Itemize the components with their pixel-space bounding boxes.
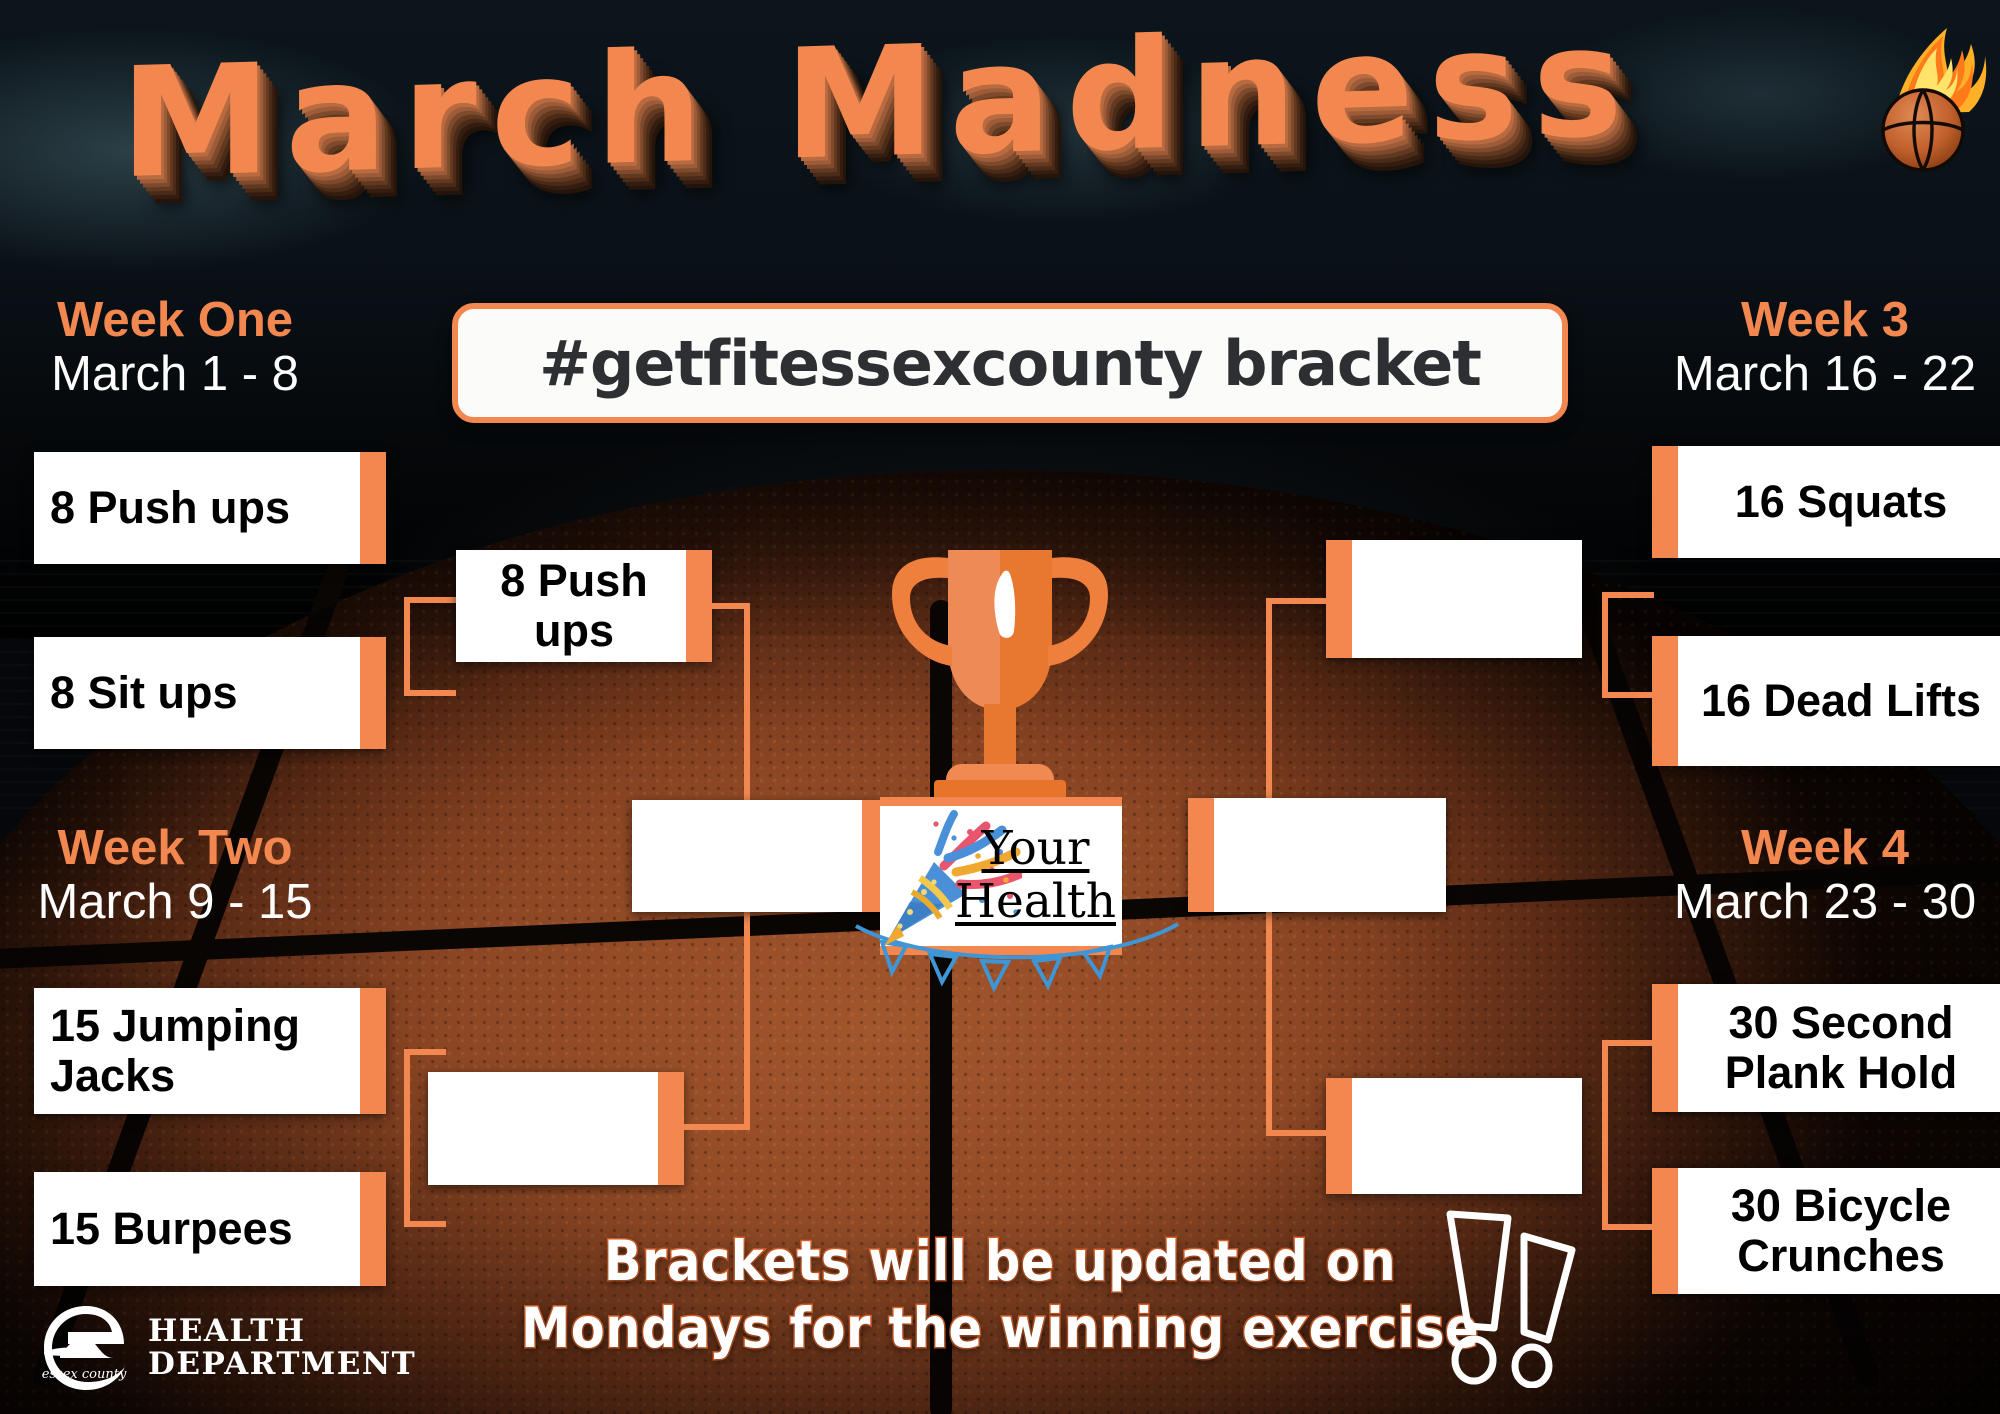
footer-note: Brackets will be updated on Mondays for … xyxy=(470,1228,1530,1362)
bracket-connector xyxy=(680,1124,750,1130)
bracket-slot[interactable]: 16 Squats xyxy=(1652,446,2000,558)
bracket-slot[interactable]: 16 Dead Lifts xyxy=(1652,636,2000,766)
bracket-connector xyxy=(1602,1040,1608,1230)
bracket-connector xyxy=(404,1221,446,1227)
bracket-connector xyxy=(712,603,750,609)
hashtag-banner-text: #getfitessexcounty bracket xyxy=(539,327,1481,400)
flaming-basketball-icon xyxy=(1855,22,1987,172)
week-three-dates: March 16 - 22 xyxy=(1625,346,2000,404)
march-madness-bracket-poster: March Madness #getfitessexcounty bracket… xyxy=(0,0,2000,1414)
bracket-slot[interactable]: 30 Second Plank Hold xyxy=(1652,984,2000,1112)
bracket-slot-label: 30 Bicycle Crunches xyxy=(1678,1181,2000,1282)
bracket-connector xyxy=(1266,1130,1328,1136)
bracket-slot-label: 15 Burpees xyxy=(34,1204,360,1254)
footer-note-line-2: Mondays for the winning exercise xyxy=(470,1295,1530,1362)
week-header-three: Week 3 March 16 - 22 xyxy=(1625,295,2000,404)
bracket-connector xyxy=(1602,1224,1654,1230)
bracket-slot-label: 16 Dead Lifts xyxy=(1678,676,2000,726)
bracket-slot-label: 30 Second Plank Hold xyxy=(1678,998,2000,1099)
hashtag-banner: #getfitessexcounty bracket xyxy=(452,303,1568,423)
bracket-slot-label: 8 Push ups xyxy=(456,556,686,657)
bracket-slot[interactable]: 15 Jumping Jacks xyxy=(34,988,386,1114)
center-prize-line-2: Health xyxy=(955,876,1116,929)
week-header-two: Week Two March 9 - 15 xyxy=(0,823,375,932)
bracket-slot-label: 8 Sit ups xyxy=(34,668,360,718)
week-three-name: Week 3 xyxy=(1625,295,2000,346)
logo-wordmark: HEALTH DEPARTMENT xyxy=(148,1315,416,1382)
logo-script-text: essex county xyxy=(42,1367,127,1382)
logo-line-2: DEPARTMENT xyxy=(148,1348,416,1381)
bracket-connector xyxy=(404,597,410,696)
bracket-slot[interactable] xyxy=(1188,798,1446,912)
week-header-one: Week One March 1 - 8 xyxy=(0,295,375,404)
bracket-slot[interactable]: 15 Burpees xyxy=(34,1172,386,1286)
bracket-slot[interactable] xyxy=(428,1072,684,1185)
week-two-dates: March 9 - 15 xyxy=(0,874,375,932)
bracket-slot[interactable] xyxy=(1326,1078,1582,1194)
bracket-connector xyxy=(404,690,456,696)
essex-county-e-mountain-icon: essex county xyxy=(38,1302,134,1394)
bracket-slot-label: 15 Jumping Jacks xyxy=(34,1001,360,1102)
bracket-connector xyxy=(1266,598,1328,604)
week-one-name: Week One xyxy=(0,295,375,346)
bracket-slot[interactable] xyxy=(632,800,888,912)
double-exclamation-icon xyxy=(1428,1208,1598,1388)
bracket-connector xyxy=(1602,692,1654,698)
week-two-name: Week Two xyxy=(0,823,375,874)
center-prize-text: Your Health xyxy=(955,823,1122,928)
logo-line-1: HEALTH xyxy=(148,1315,416,1348)
trophy-icon xyxy=(862,530,1138,830)
week-four-name: Week 4 xyxy=(1625,823,2000,874)
bracket-connector xyxy=(404,597,456,603)
week-four-dates: March 23 - 30 xyxy=(1625,874,2000,932)
essex-county-health-department-logo: essex county HEALTH DEPARTMENT xyxy=(38,1300,368,1396)
page-title: March Madness xyxy=(120,8,1880,198)
bracket-connector xyxy=(404,1049,410,1227)
bracket-slot[interactable]: 8 Sit ups xyxy=(34,637,386,749)
week-one-dates: March 1 - 8 xyxy=(0,346,375,404)
footer-note-line-1: Brackets will be updated on xyxy=(470,1228,1530,1295)
bracket-connector xyxy=(404,1049,446,1055)
bracket-slot[interactable]: 8 Push ups xyxy=(34,452,386,564)
center-prize-line-1: Your xyxy=(955,823,1116,876)
bracket-slot[interactable]: 8 Push ups xyxy=(456,550,712,662)
bracket-slot[interactable] xyxy=(1326,540,1582,658)
bracket-slot-label: 16 Squats xyxy=(1678,477,2000,527)
bracket-slot[interactable]: 30 Bicycle Crunches xyxy=(1652,1168,2000,1294)
bracket-connector xyxy=(1602,592,1608,698)
page-title-text: March Madness xyxy=(120,6,1637,200)
bracket-connector xyxy=(1602,592,1654,598)
week-header-four: Week 4 March 23 - 30 xyxy=(1625,823,2000,932)
bracket-slot-label: 8 Push ups xyxy=(34,483,360,533)
bracket-connector xyxy=(1602,1040,1654,1046)
